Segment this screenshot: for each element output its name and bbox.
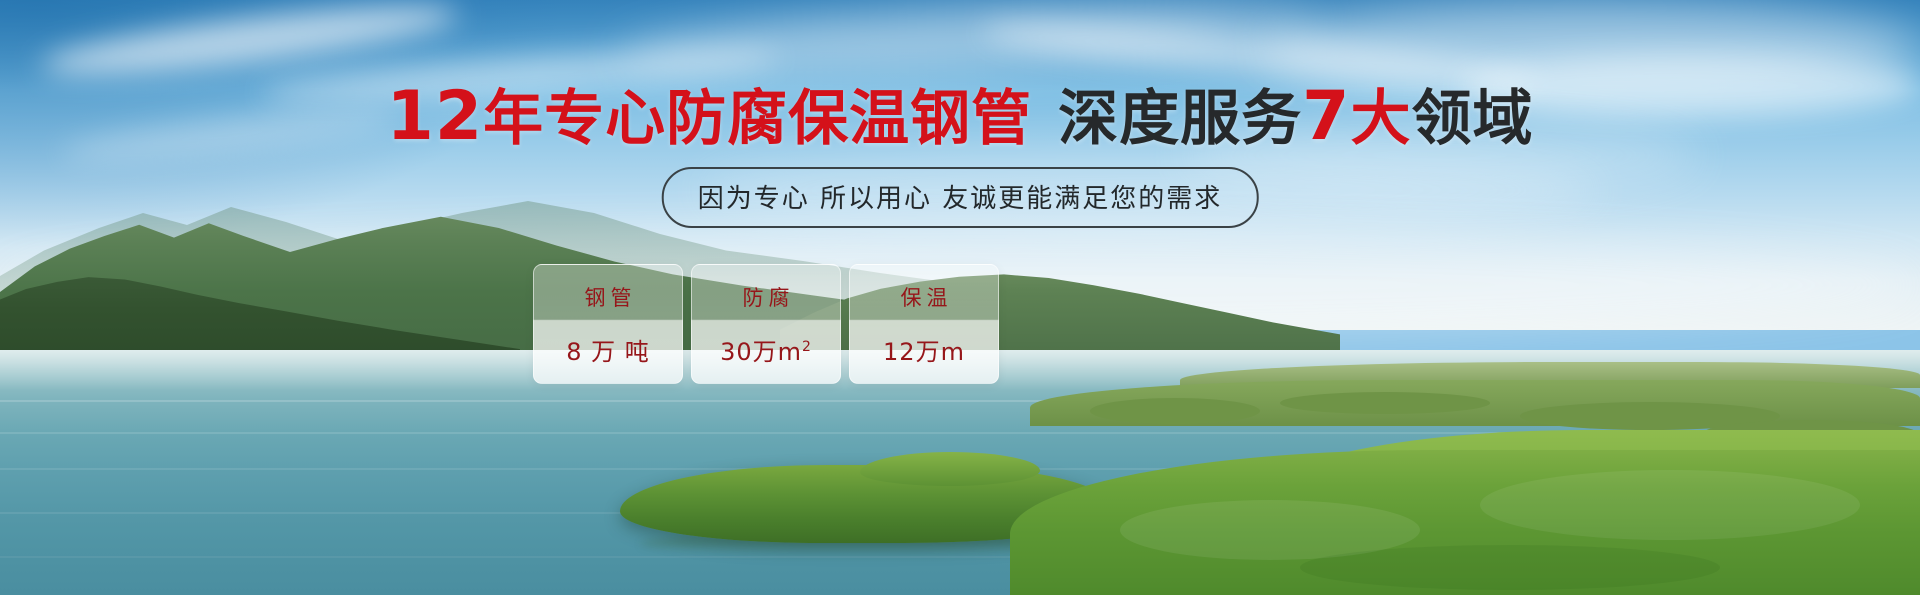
marsh-patch [1090,398,1260,424]
stat-card-title: 防腐 [738,282,795,312]
grass-island-top [860,452,1040,486]
grass-texture [1480,470,1860,540]
headline-segment-2: 深度服务 [1058,84,1302,154]
stat-card-title: 钢管 [580,282,637,312]
stat-card-steel-pipe[interactable]: 钢管 8 万 吨 [533,264,683,384]
headline-segment-1: 年专心防腐保温钢管 [483,84,1032,154]
marsh-patch [1280,392,1490,414]
stat-card-value: 30万m2 [720,332,812,367]
stat-card-value: 8 万 吨 [566,332,650,367]
banner-headline: 12年专心防腐保温钢管深度服务7大领域 [0,83,1920,151]
stat-card-anticorrosion[interactable]: 防腐 30万m2 [691,264,841,384]
banner-subtitle-pill: 因为专心 所以用心 友诚更能满足您的需求 [662,167,1259,228]
headline-fields-unit: 大 [1350,84,1411,154]
stat-value-superscript: 2 [802,339,812,355]
grass-texture [1300,545,1720,590]
stat-card-group: 钢管 8 万 吨 防腐 30万m2 保温 12万m [533,264,999,384]
hero-banner: 12年专心防腐保温钢管深度服务7大领域 因为专心 所以用心 友诚更能满足您的需求… [0,0,1920,595]
stat-card-insulation[interactable]: 保温 12万m [849,264,999,384]
stat-card-title: 保温 [896,282,953,312]
headline-segment-3: 领域 [1411,84,1533,154]
headline-years-number: 12 [387,77,484,156]
subtitle-text: 因为专心 所以用心 友诚更能满足您的需求 [698,184,1223,214]
stat-card-value: 12万m [883,332,965,367]
headline-fields-number: 7 [1302,77,1350,156]
